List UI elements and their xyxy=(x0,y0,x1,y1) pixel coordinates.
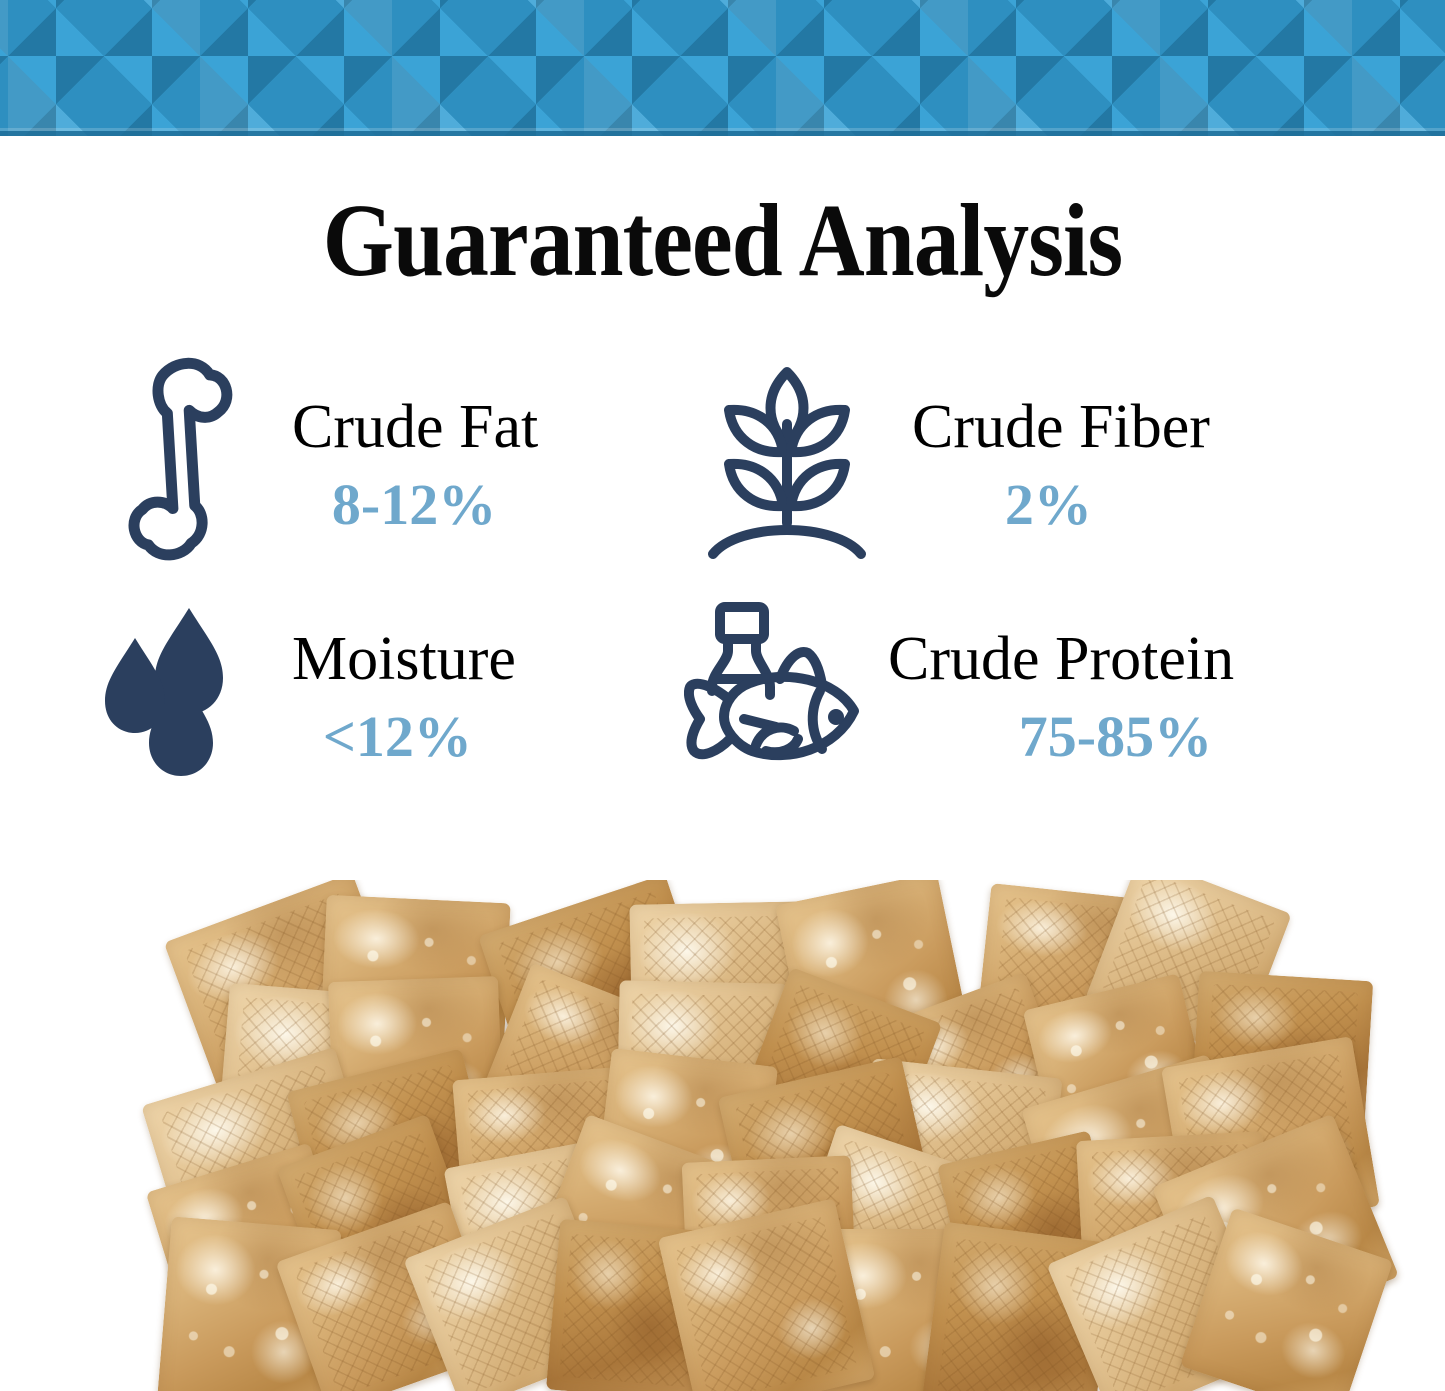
fact-label: Crude Protein xyxy=(888,628,1234,690)
fact-value: 8-12% xyxy=(292,476,538,534)
fact-moisture: Moisture <12% xyxy=(70,584,670,816)
fact-crude-protein: Crude Protein 75-85% xyxy=(670,584,1390,816)
fact-crude-fat: Crude Fat 8-12% xyxy=(70,352,670,584)
fact-label: Crude Fiber xyxy=(912,396,1210,458)
fact-text-crude-protein: Crude Protein 75-85% xyxy=(888,584,1234,766)
fish-oil-icon xyxy=(684,584,874,799)
argyle-highlight-layer xyxy=(0,0,1445,136)
water-drops-icon xyxy=(80,584,270,799)
fact-value: <12% xyxy=(292,708,516,766)
wheat-icon xyxy=(692,352,882,567)
product-photo xyxy=(0,880,1445,1391)
fact-label: Moisture xyxy=(292,628,516,690)
fact-crude-fiber: Crude Fiber 2% xyxy=(670,352,1390,584)
fact-text-crude-fiber: Crude Fiber 2% xyxy=(912,352,1210,534)
fact-label: Crude Fat xyxy=(292,396,538,458)
rawhide-chip-pile xyxy=(0,880,1445,1391)
bone-icon xyxy=(88,352,278,567)
header-pattern-band xyxy=(0,0,1445,136)
guaranteed-analysis-grid: Crude Fat 8-12% xyxy=(70,352,1390,822)
header-bottom-edge xyxy=(0,131,1445,136)
fact-value: 2% xyxy=(912,476,1210,534)
fact-value: 75-85% xyxy=(888,708,1234,766)
page-title: Guaranteed Analysis xyxy=(87,186,1359,295)
fact-text-moisture: Moisture <12% xyxy=(292,584,516,766)
fact-text-crude-fat: Crude Fat 8-12% xyxy=(292,352,538,534)
